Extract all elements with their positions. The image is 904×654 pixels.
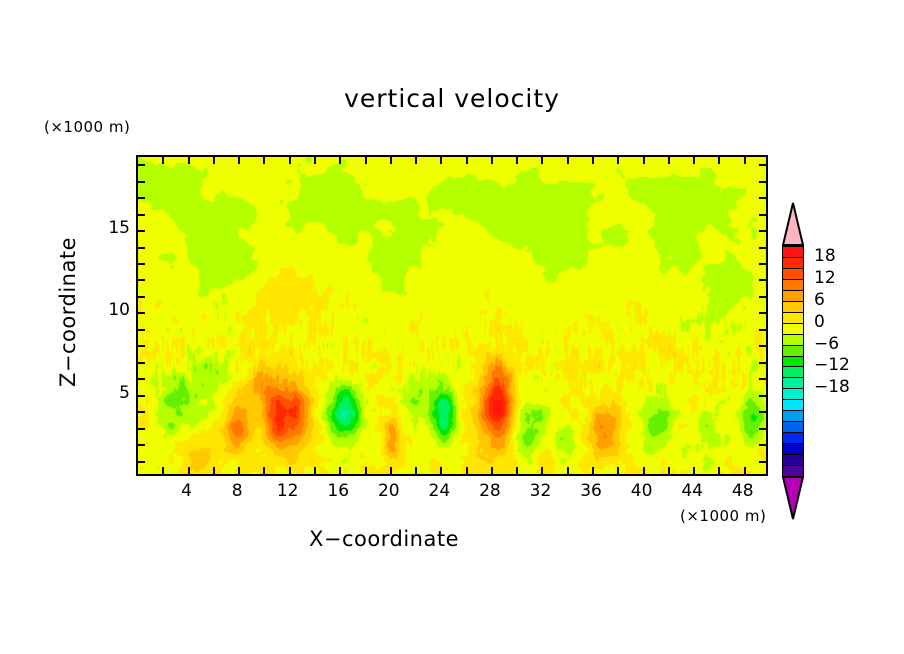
y-tick-mark [138, 329, 145, 331]
x-tick-mark [516, 157, 518, 164]
x-tick-mark [718, 467, 720, 474]
colorbar-over-range-cap [782, 202, 804, 246]
x-tick-mark [238, 157, 240, 164]
chart-canvas-root: vertical velocity (×1000 m) 481216202428… [0, 0, 904, 654]
y-tick-mark [138, 378, 145, 380]
y-tick-label-5: 5 [84, 383, 130, 403]
x-axis-title: X−coordinate [0, 527, 768, 551]
plot-area [136, 155, 768, 476]
colorbar-label-18: 18 [814, 246, 836, 266]
x-tick-mark [390, 467, 392, 474]
y-tick-mark [759, 296, 766, 298]
y-tick-mark [138, 428, 145, 430]
x-tick-mark [617, 467, 619, 474]
y-tick-mark [759, 411, 766, 413]
x-tick-label-48: 48 [713, 481, 773, 501]
y-tick-mark [138, 345, 145, 347]
colorbar-label-12: 12 [814, 268, 836, 288]
x-tick-mark [693, 157, 695, 164]
x-tick-mark [365, 467, 367, 474]
x-tick-mark [744, 157, 746, 164]
x-tick-mark [263, 467, 265, 474]
y-tick-mark [138, 197, 145, 199]
x-tick-mark [491, 157, 493, 164]
x-tick-mark [617, 157, 619, 164]
x-tick-mark [592, 467, 594, 474]
y-tick-mark [138, 296, 145, 298]
x-tick-mark [238, 467, 240, 474]
y-tick-mark [759, 378, 766, 380]
y-tick-mark [759, 345, 766, 347]
x-tick-mark [541, 157, 543, 164]
x-tick-mark [188, 467, 190, 474]
y-tick-mark [138, 279, 145, 281]
y-tick-mark [759, 329, 766, 331]
y-tick-mark [138, 181, 145, 183]
x-tick-mark [466, 157, 468, 164]
x-tick-mark [162, 467, 164, 474]
y-tick-label-15: 15 [84, 218, 130, 238]
x-tick-mark [541, 467, 543, 474]
x-tick-mark [263, 157, 265, 164]
x-tick-mark [339, 467, 341, 474]
x-tick-mark [440, 467, 442, 474]
contour-field [138, 157, 766, 474]
x-tick-mark [592, 157, 594, 164]
y-tick-mark [759, 362, 766, 364]
y-axis-title: Z−coordinate [56, 202, 80, 422]
page-title: vertical velocity [0, 84, 904, 113]
y-tick-mark [759, 263, 766, 265]
x-tick-mark [466, 467, 468, 474]
y-tick-mark [759, 279, 766, 281]
y-tick-mark [759, 164, 766, 166]
x-tick-mark [188, 157, 190, 164]
y-tick-mark [138, 395, 145, 397]
x-tick-mark [718, 157, 720, 164]
y-tick-mark [138, 461, 145, 463]
x-axis-units-label: (×1000 m) [680, 507, 766, 525]
x-tick-mark [491, 467, 493, 474]
y-tick-mark [759, 230, 766, 232]
x-tick-mark [567, 157, 569, 164]
x-tick-mark [339, 157, 341, 164]
x-tick-mark [643, 467, 645, 474]
x-tick-mark [213, 157, 215, 164]
y-tick-mark [759, 461, 766, 463]
x-tick-mark [415, 467, 417, 474]
x-tick-mark [693, 467, 695, 474]
y-tick-mark [759, 214, 766, 216]
x-tick-mark [213, 467, 215, 474]
x-tick-mark [567, 467, 569, 474]
y-tick-mark [759, 181, 766, 183]
x-tick-mark [668, 467, 670, 474]
y-tick-mark [759, 444, 766, 446]
x-tick-mark [289, 467, 291, 474]
x-tick-mark [390, 157, 392, 164]
y-tick-mark [138, 247, 145, 249]
y-tick-mark [138, 362, 145, 364]
colorbar-label--6: −6 [814, 334, 839, 354]
y-tick-mark [138, 312, 145, 314]
y-tick-mark [759, 197, 766, 199]
y-tick-label-10: 10 [84, 300, 130, 320]
x-tick-mark [643, 157, 645, 164]
y-tick-mark [138, 230, 145, 232]
y-tick-mark [138, 263, 145, 265]
colorbar-label-6: 6 [814, 290, 825, 310]
colorbar-under-range-cap [782, 476, 804, 520]
x-tick-mark [314, 467, 316, 474]
x-tick-mark [314, 157, 316, 164]
y-tick-mark [138, 164, 145, 166]
x-tick-mark [668, 157, 670, 164]
x-tick-mark [162, 157, 164, 164]
y-tick-mark [138, 411, 145, 413]
x-tick-mark [415, 157, 417, 164]
x-tick-mark [516, 467, 518, 474]
colorbar-label-0: 0 [814, 312, 825, 332]
x-tick-mark [440, 157, 442, 164]
y-tick-mark [759, 395, 766, 397]
colorbar-label--12: −12 [814, 355, 850, 375]
y-tick-mark [138, 214, 145, 216]
x-tick-mark [289, 157, 291, 164]
colorbar [782, 246, 804, 476]
x-tick-mark [744, 467, 746, 474]
y-tick-mark [138, 444, 145, 446]
colorbar-label--18: −18 [814, 377, 850, 397]
y-tick-mark [759, 312, 766, 314]
y-axis-units-label: (×1000 m) [44, 118, 130, 136]
y-tick-mark [759, 428, 766, 430]
x-tick-mark [365, 157, 367, 164]
y-tick-mark [759, 247, 766, 249]
